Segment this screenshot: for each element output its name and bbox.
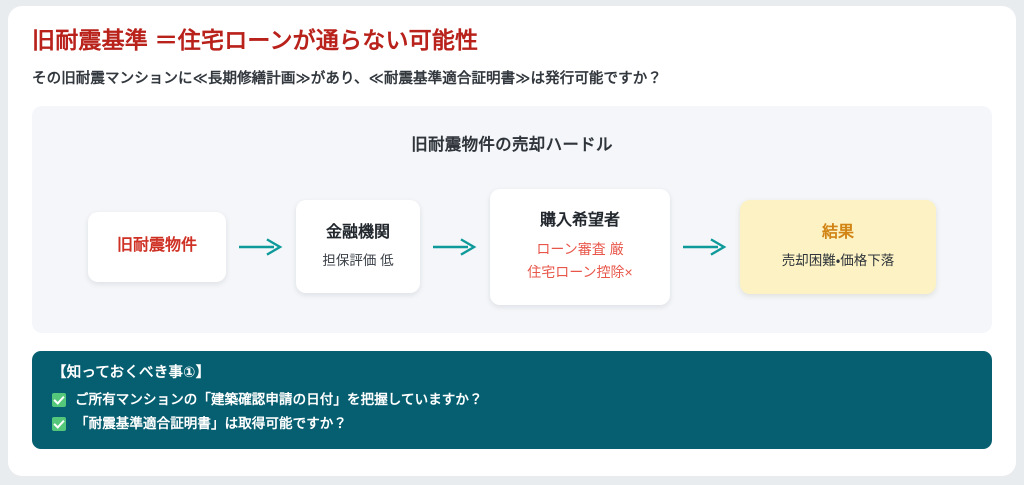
arrow-right-icon-2 (420, 237, 490, 257)
note-panel-title: 【知っておくべき事①】 (52, 364, 972, 383)
arrow-right-icon-1 (226, 237, 296, 257)
page-subtitle: その旧耐震マンションに≪長期修繕計画≫があり、≪耐震基準適合証明書≫は発行可能で… (32, 69, 992, 89)
arrow-right-icon-3 (670, 237, 740, 257)
flow-box-result: 結果 売却困難・価格下落 (740, 200, 936, 294)
flow-box-subtext: 売却困難・価格下落 (782, 251, 895, 271)
flow-box-heading: 金融機関 (326, 223, 390, 244)
note-checklist-item-label: ご所有マンションの「建築確認申請の日付」を把握していますか？ (75, 390, 483, 411)
flow-row: 旧耐震物件 金融機関 担保評価 低 (32, 179, 992, 314)
flow-box-subtext: 担保評価 低 (322, 251, 393, 271)
flow-box-subtext: 住宅ローン控除× (527, 262, 632, 282)
content-card: 旧耐震基準 ＝住宅ローンが通らない可能性 その旧耐震マンションに≪長期修繕計画≫… (8, 6, 1016, 476)
flow-box-old-quake-property: 旧耐震物件 (88, 212, 226, 282)
diagram-panel: 旧耐震物件の売却ハードル 旧耐震物件 金融機関 担保評価 低 (32, 106, 992, 333)
note-checklist-item-label: 「耐震基準適合証明書」は取得可能ですか？ (75, 414, 347, 435)
check-icon (52, 417, 66, 431)
flow-box-prospective-buyer: 購入希望者 ローン審査 厳 住宅ローン控除× (490, 189, 670, 305)
note-panel: 【知っておくべき事①】 ご所有マンションの「建築確認申請の日付」を把握しています… (32, 351, 992, 449)
diagram-title: 旧耐震物件の売却ハードル (32, 106, 992, 155)
flow-box-financial-institution: 金融機関 担保評価 低 (296, 200, 420, 293)
check-icon (52, 393, 66, 407)
flow-box-heading: 購入希望者 (540, 211, 620, 232)
flow-box-subtext: ローン審査 厳 (536, 239, 623, 259)
page-title: 旧耐震基準 ＝住宅ローンが通らない可能性 (32, 26, 992, 55)
note-checklist-item: ご所有マンションの「建築確認申請の日付」を把握していますか？ (52, 390, 972, 411)
flow-box-heading: 結果 (822, 223, 854, 244)
note-checklist-item: 「耐震基準適合証明書」は取得可能ですか？ (52, 414, 972, 435)
flow-box-heading: 旧耐震物件 (117, 236, 197, 257)
